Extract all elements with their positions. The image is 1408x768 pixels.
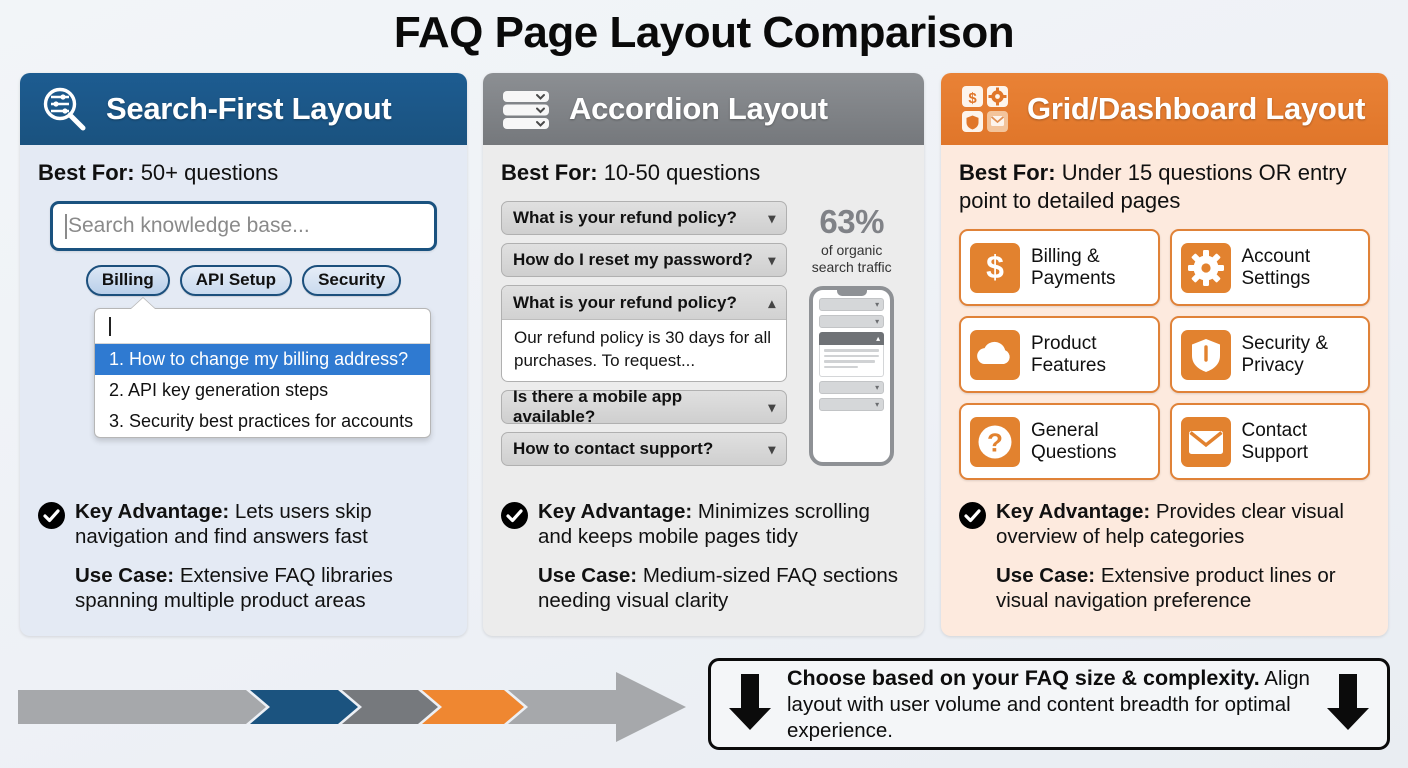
- use-case-row: Use Case: Medium-sized FAQ sections need…: [501, 563, 906, 614]
- chip-api-setup[interactable]: API Setup: [180, 265, 292, 296]
- panel-title-search-first: Search-First Layout: [106, 91, 391, 127]
- tile-label: Security & Privacy: [1242, 333, 1329, 377]
- accordion-answer: Our refund policy is 30 days for all pur…: [502, 320, 786, 381]
- accordion-row[interactable]: Is there a mobile app available? ▾: [501, 390, 787, 424]
- tile-label: Contact Support: [1242, 420, 1309, 464]
- accordion-rows-icon: [501, 83, 553, 135]
- accordion-row-expanded: What is your refund policy? ▴ Our refund…: [501, 285, 787, 382]
- text-caret-icon: [65, 214, 67, 239]
- search-input[interactable]: Search knowledge base...: [50, 201, 437, 251]
- stat-label: of organic search traffic: [797, 242, 906, 276]
- shield-icon: [1181, 330, 1231, 380]
- summary-headline: Choose based on your FAQ size & complexi…: [787, 666, 1260, 690]
- phone-notch-icon: [837, 290, 867, 296]
- stat-label-line1: of organic: [797, 242, 906, 259]
- accordion-question: What is your refund policy?: [513, 293, 737, 313]
- key-advantage-label: Key Advantage:: [538, 500, 692, 523]
- arrow-down-icon: [727, 670, 773, 739]
- suggestion-item[interactable]: 3. Security best practices for accounts: [95, 406, 430, 437]
- tile-label-line1: Security &: [1242, 333, 1329, 354]
- svg-text:$: $: [968, 90, 977, 107]
- tile-label-line1: General: [1031, 420, 1099, 441]
- check-circle-icon: [38, 502, 65, 529]
- dropdown-input[interactable]: [95, 309, 430, 344]
- tile-label: Product Features: [1031, 333, 1106, 377]
- accordion-question: How to contact support?: [513, 439, 713, 459]
- phone-accordion-row-open: ▴: [819, 332, 884, 345]
- category-tiles: $ Billing & Payments: [959, 229, 1370, 480]
- best-for-search-first: Best For: 50+ questions: [38, 159, 449, 187]
- question-mark-icon: ?: [970, 417, 1020, 467]
- chevron-up-icon: ▴: [768, 296, 775, 310]
- cloud-icon: [970, 330, 1020, 380]
- summary-text: Choose based on your FAQ size & complexi…: [787, 665, 1311, 744]
- key-advantage-text: Key Advantage: Minimizes scrolling and k…: [538, 499, 906, 550]
- tile-label: Account Settings: [1242, 246, 1311, 290]
- use-case-row: Use Case: Extensive FAQ libraries spanni…: [38, 563, 449, 614]
- infographic-canvas: FAQ Page Layout Comparison Search-First …: [0, 0, 1408, 768]
- accordion-list: What is your refund policy? ▾ How do I r…: [501, 201, 787, 474]
- search-filter-icon: [38, 83, 90, 135]
- tile-label-line2: Support: [1242, 442, 1309, 463]
- use-case-row: Use Case: Extensive product lines or vis…: [959, 563, 1370, 614]
- best-for-label: Best For:: [501, 160, 598, 185]
- suggestions-dropdown: 1. How to change my billing address? 2. …: [94, 308, 431, 438]
- tile-label-line2: Payments: [1031, 268, 1115, 289]
- notes-accordion: Key Advantage: Minimizes scrolling and k…: [483, 499, 924, 615]
- chevron-down-icon: ▾: [768, 400, 775, 414]
- key-advantage-row: Key Advantage: Lets users skip navigatio…: [38, 499, 449, 550]
- arrow-down-icon: [1325, 670, 1371, 739]
- notes-grid-dashboard: Key Advantage: Provides clear visual ove…: [941, 499, 1388, 615]
- tile-account-settings[interactable]: Account Settings: [1170, 229, 1371, 306]
- search-placeholder: Search knowledge base...: [68, 214, 310, 238]
- key-advantage-label: Key Advantage:: [996, 500, 1150, 523]
- chevron-down-icon: ▾: [768, 211, 775, 225]
- accordion-row[interactable]: How do I reset my password? ▾: [501, 243, 787, 277]
- suggestion-item[interactable]: 2. API key generation steps: [95, 375, 430, 406]
- tile-security-privacy[interactable]: Security & Privacy: [1170, 316, 1371, 393]
- accordion-question: How do I reset my password?: [513, 250, 753, 270]
- tile-product-features[interactable]: Product Features: [959, 316, 1160, 393]
- chip-billing[interactable]: Billing: [86, 265, 170, 296]
- phone-accordion-answer: [819, 345, 884, 377]
- stat-label-line2: search traffic: [797, 259, 906, 276]
- chevron-down-icon: ▾: [768, 253, 775, 267]
- accordion-row-header[interactable]: What is your refund policy? ▴: [502, 286, 786, 320]
- tile-label-line1: Contact: [1242, 420, 1307, 441]
- accordion-row[interactable]: What is your refund policy? ▾: [501, 201, 787, 235]
- key-advantage-text: Key Advantage: Provides clear visual ove…: [996, 499, 1370, 550]
- tile-contact-support[interactable]: Contact Support: [1170, 403, 1371, 480]
- envelope-icon: [1181, 417, 1231, 467]
- key-advantage-text: Key Advantage: Lets users skip navigatio…: [75, 499, 449, 550]
- chevron-down-icon: ▾: [768, 442, 775, 456]
- use-case-label: Use Case:: [75, 564, 174, 587]
- page-title: FAQ Page Layout Comparison: [0, 8, 1408, 58]
- panel-body-grid-dashboard: Best For: Under 15 questions OR entry po…: [941, 145, 1388, 480]
- svg-text:?: ?: [987, 427, 1003, 457]
- panel-body-search-first: Best For: 50+ questions Search knowledge…: [20, 145, 467, 438]
- key-advantage-label: Key Advantage:: [75, 500, 229, 523]
- progression-arrow: [18, 666, 688, 748]
- panel-header-accordion: Accordion Layout: [483, 73, 924, 145]
- best-for-label: Best For:: [38, 160, 135, 185]
- phone-accordion-row: ▾: [819, 298, 884, 311]
- tile-label-line1: Billing &: [1031, 246, 1100, 267]
- tile-label-line2: Settings: [1242, 268, 1311, 289]
- svg-text:$: $: [986, 249, 1004, 285]
- use-case-label: Use Case:: [996, 564, 1095, 587]
- chip-security[interactable]: Security: [302, 265, 401, 296]
- tile-label-line2: Features: [1031, 355, 1106, 376]
- tile-label-line1: Product: [1031, 333, 1096, 354]
- accordion-demo: What is your refund policy? ▾ How do I r…: [501, 201, 906, 474]
- summary-callout: Choose based on your FAQ size & complexi…: [708, 658, 1390, 750]
- panel-header-search-first: Search-First Layout: [20, 73, 467, 145]
- dollar-icon: $: [970, 243, 1020, 293]
- tile-label: General Questions: [1031, 420, 1117, 464]
- key-advantage-row: Key Advantage: Provides clear visual ove…: [959, 499, 1370, 550]
- best-for-accordion: Best For: 10-50 questions: [501, 159, 906, 187]
- tile-label-line2: Questions: [1031, 442, 1117, 463]
- check-circle-icon: [959, 502, 986, 529]
- accordion-question: What is your refund policy?: [513, 208, 737, 228]
- panel-accordion: Accordion Layout Best For: 10-50 questio…: [483, 73, 924, 636]
- panel-title-accordion: Accordion Layout: [569, 91, 828, 127]
- best-for-value: 10-50 questions: [604, 160, 761, 185]
- stat-block: 63% of organic search traffic ▾ ▾ ▴: [797, 201, 906, 474]
- best-for-grid-dashboard: Best For: Under 15 questions OR entry po…: [959, 159, 1370, 215]
- filter-chips: Billing API Setup Security: [38, 265, 449, 296]
- tile-general-questions[interactable]: ? General Questions: [959, 403, 1160, 480]
- panel-grid-dashboard: $ Grid/Dashboard Layout Best: [941, 73, 1388, 636]
- suggestion-item[interactable]: 1. How to change my billing address?: [95, 344, 430, 375]
- panel-title-grid-dashboard: Grid/Dashboard Layout: [1027, 91, 1365, 127]
- tile-label: Billing & Payments: [1031, 246, 1115, 290]
- panel-body-accordion: Best For: 10-50 questions What is your r…: [483, 145, 924, 474]
- grid-tiles-icon: $: [959, 83, 1011, 135]
- tile-billing-payments[interactable]: $ Billing & Payments: [959, 229, 1160, 306]
- best-for-value: 50+ questions: [141, 160, 279, 185]
- phone-accordion-row: ▾: [819, 381, 884, 394]
- notes-search-first: Key Advantage: Lets users skip navigatio…: [20, 499, 467, 615]
- accordion-row[interactable]: How to contact support? ▾: [501, 432, 787, 466]
- stat-number: 63%: [797, 203, 906, 241]
- tile-label-line1: Account: [1242, 246, 1311, 267]
- text-caret-icon: [109, 317, 111, 336]
- gear-icon: [1181, 243, 1231, 293]
- check-circle-icon: [501, 502, 528, 529]
- accordion-question: Is there a mobile app available?: [513, 387, 768, 427]
- panel-header-grid-dashboard: $ Grid/Dashboard Layout: [941, 73, 1388, 145]
- use-case-label: Use Case:: [538, 564, 637, 587]
- best-for-label: Best For:: [959, 160, 1056, 185]
- panel-search-first: Search-First Layout Best For: 50+ questi…: [20, 73, 467, 636]
- key-advantage-row: Key Advantage: Minimizes scrolling and k…: [501, 499, 906, 550]
- phone-mockup: ▾ ▾ ▴ ▾ ▾: [809, 286, 894, 466]
- phone-accordion-row: ▾: [819, 398, 884, 411]
- tile-label-line2: Privacy: [1242, 355, 1304, 376]
- phone-accordion-row: ▾: [819, 315, 884, 328]
